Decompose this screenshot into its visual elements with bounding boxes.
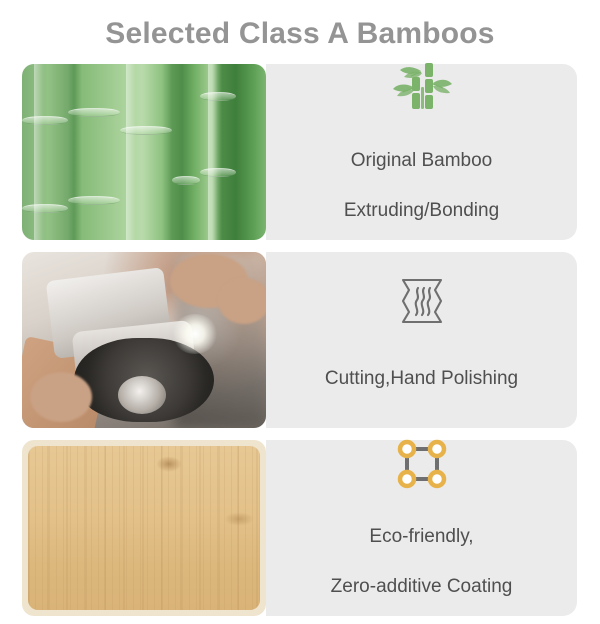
bamboo-board-photo xyxy=(22,440,266,616)
feature-row-cutting-polishing: Cutting,Hand Polishing xyxy=(0,252,600,428)
grinder-photo xyxy=(22,252,266,428)
feature-caption-line1: Eco-friendly, xyxy=(331,524,513,549)
feature-caption-line2: Zero-additive Coating xyxy=(331,574,513,599)
grinder-image xyxy=(22,252,266,428)
feature-caption-line2: Extruding/Bonding xyxy=(344,198,499,223)
feature-row-list: Original Bamboo Extruding/Bonding xyxy=(0,64,600,616)
bamboo-culms-photo xyxy=(22,64,266,240)
feature-panel: Selected Class A Bamboos xyxy=(0,0,600,600)
feature-caption-line1: Original Bamboo xyxy=(344,148,499,173)
bamboo-culms-image xyxy=(22,64,266,240)
feature-caption: Eco-friendly, Zero-additive Coating xyxy=(321,499,523,624)
feature-panel-cutting-polishing: Cutting,Hand Polishing xyxy=(266,252,577,428)
feature-panel-eco-coating: Eco-friendly, Zero-additive Coating xyxy=(266,440,577,616)
feature-caption: Cutting,Hand Polishing xyxy=(315,341,528,416)
bamboo-stalks-icon xyxy=(391,57,453,119)
molecule-square-icon xyxy=(391,433,453,495)
polishing-waves-icon xyxy=(393,265,451,337)
feature-caption-line1: Cutting,Hand Polishing xyxy=(325,366,518,391)
bamboo-board-image xyxy=(22,440,266,616)
page-title: Selected Class A Bamboos xyxy=(0,16,600,52)
feature-panel-original-bamboo: Original Bamboo Extruding/Bonding xyxy=(266,64,577,240)
feature-row-original-bamboo: Original Bamboo Extruding/Bonding xyxy=(0,64,600,240)
feature-row-eco-coating: Eco-friendly, Zero-additive Coating xyxy=(0,440,600,616)
feature-caption: Original Bamboo Extruding/Bonding xyxy=(334,123,509,248)
